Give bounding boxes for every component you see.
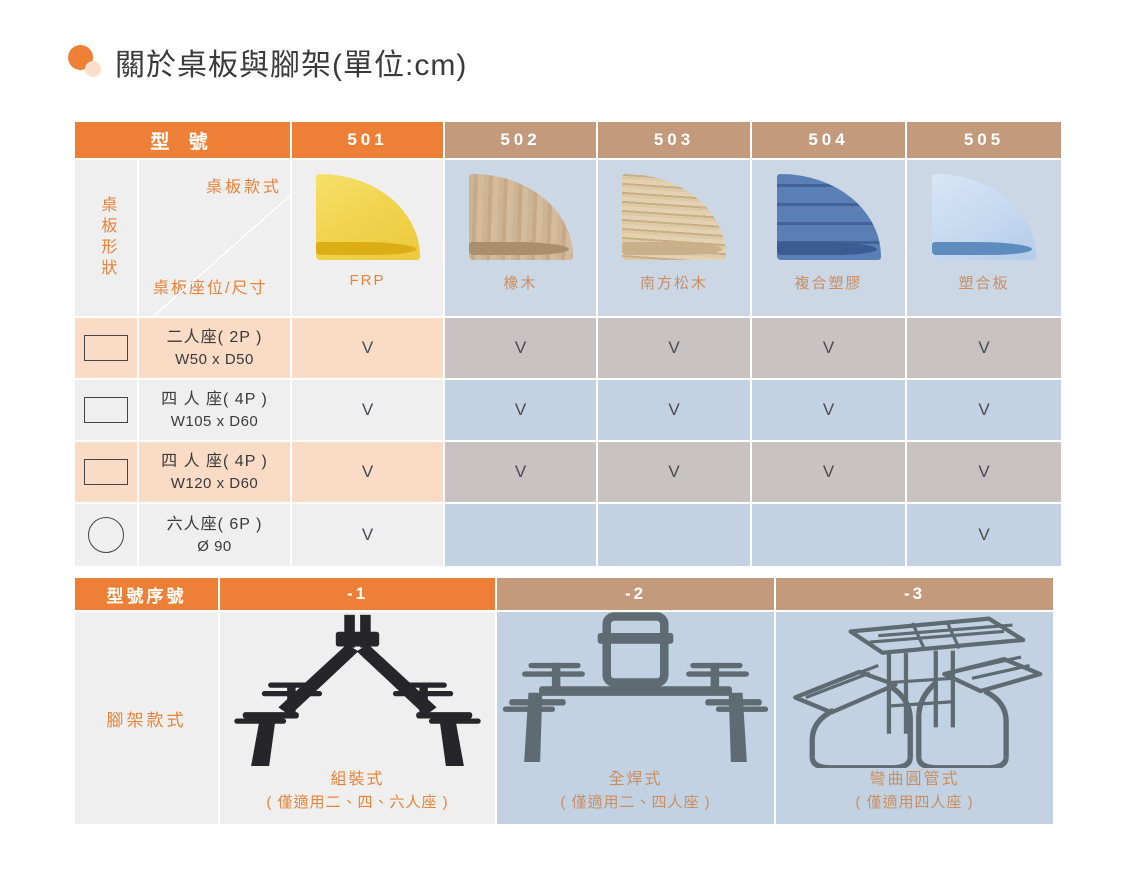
header-col-2: -2: [497, 578, 774, 610]
oak-wedge-icon: [461, 170, 581, 268]
seat-count-row4: 六人座( 6P ): [167, 513, 263, 536]
leg-frame-note-2: ( 僅適用二、四人座 ): [560, 792, 710, 815]
fully-welded-frame-icon: [497, 612, 774, 768]
dimensions-row2: W105 x D60: [171, 411, 259, 433]
material-preview-504: 複合塑膠: [752, 160, 905, 316]
header-col-502: 502: [445, 122, 596, 158]
cell-505-row3: V: [907, 442, 1061, 502]
header-col-501: 501: [292, 122, 443, 158]
dimensions-row1: W50 x D50: [175, 349, 254, 371]
shape-icon-cell-row1: [75, 318, 137, 378]
size-cell-row1: 二人座( 2P ) W50 x D50: [139, 318, 290, 378]
frp-wedge-icon: [308, 170, 428, 268]
orange-dot-icon: [68, 45, 102, 79]
cell-505-row2: V: [907, 380, 1061, 440]
material-preview-501: FRP: [292, 160, 443, 316]
size-cell-row3: 四 人 座( 4P ) W120 x D60: [139, 442, 290, 502]
cell-502-row2: V: [445, 380, 596, 440]
shape-icon-cell-row2: [75, 380, 137, 440]
header-col-3: -3: [776, 578, 1053, 610]
cell-503-row2: V: [598, 380, 750, 440]
leg-frame-note-1: ( 僅適用二、四、六人座 ): [266, 792, 448, 815]
rectangle-shape-icon: [84, 335, 128, 361]
leg-frame-cell-2: 全焊式 ( 僅適用二、四人座 ): [497, 612, 774, 824]
material-preview-502: 橡木: [445, 160, 596, 316]
size-cell-row2: 四 人 座( 4P ) W105 x D60: [139, 380, 290, 440]
composite-plastic-wedge-icon: [769, 170, 889, 268]
material-preview-505: 塑合板: [907, 160, 1061, 316]
cell-502-row3: V: [445, 442, 596, 502]
cell-504-row4: [752, 504, 905, 566]
axis-label-shape: 桌板形狀: [75, 160, 137, 316]
page-title: 關於桌板與腳架(單位:cm): [115, 40, 467, 84]
size-cell-row4: 六人座( 6P ) Ø 90: [139, 504, 290, 566]
header-model: 型 號: [75, 122, 290, 158]
shape-icon-cell-row3: [75, 442, 137, 502]
header-col-504: 504: [752, 122, 905, 158]
header-col-503: 503: [598, 122, 750, 158]
rectangle-shape-icon: [84, 459, 128, 485]
leg-frame-name-3: 彎曲圓管式: [869, 768, 959, 792]
page-title-row: 關於桌板與腳架(單位:cm): [68, 40, 467, 84]
cell-505-row1: V: [907, 318, 1061, 378]
orange-dot-secondary: [85, 61, 101, 77]
cell-501-row2: V: [292, 380, 443, 440]
pine-wedge-icon: [614, 170, 734, 268]
axis-split-cell: 桌板款式 桌板座位/尺寸: [139, 160, 290, 316]
leg-frame-cell-3: 彎曲圓管式 ( 僅適用四人座 ): [776, 612, 1053, 824]
material-label-504: 複合塑膠: [794, 272, 862, 293]
cell-502-row1: V: [445, 318, 596, 378]
header-col-1: -1: [220, 578, 495, 610]
leg-frame-cell-1: 組裝式 ( 僅適用二、四、六人座 ): [220, 612, 495, 824]
material-label-503: 南方松木: [640, 272, 708, 293]
tabletop-spec-table: 型 號 501 502 503 504 505 桌板形狀 桌板款式 桌板座位/尺…: [75, 122, 1049, 556]
seat-count-row3: 四 人 座( 4P ): [161, 450, 268, 473]
bolted-a-frame-icon: [220, 612, 495, 768]
material-preview-503: 南方松木: [598, 160, 750, 316]
cell-503-row3: V: [598, 442, 750, 502]
seat-count-row2: 四 人 座( 4P ): [161, 388, 268, 411]
cell-504-row2: V: [752, 380, 905, 440]
material-label-501: FRP: [350, 272, 386, 289]
cell-503-row4: [598, 504, 750, 566]
cell-502-row4: [445, 504, 596, 566]
dimensions-row3: W120 x D60: [171, 473, 259, 495]
circle-shape-icon: [88, 517, 124, 553]
leg-frame-name-2: 全焊式: [608, 768, 662, 792]
row-label-leg-style: 腳架款式: [75, 612, 218, 824]
seat-count-row1: 二人座( 2P ): [167, 326, 263, 349]
leg-frame-spec-table: 型號序號 -1 -2 -3 腳架款式: [75, 578, 1049, 824]
rectangle-shape-icon: [84, 397, 128, 423]
cell-501-row3: V: [292, 442, 443, 502]
material-label-502: 橡木: [503, 272, 537, 293]
dimensions-row4: Ø 90: [197, 536, 232, 558]
header-series: 型號序號: [75, 578, 218, 610]
cell-504-row3: V: [752, 442, 905, 502]
cell-505-row4: V: [907, 504, 1061, 566]
axis-label-style: 桌板款式: [206, 176, 282, 199]
cell-501-row1: V: [292, 318, 443, 378]
shape-icon-cell-row4: [75, 504, 137, 566]
axis-label-shape-text: 桌板形狀: [98, 196, 115, 280]
header-col-505: 505: [907, 122, 1061, 158]
axis-label-size: 桌板座位/尺寸: [153, 277, 267, 300]
bent-round-tube-frame-icon: [776, 612, 1053, 768]
leg-frame-note-3: ( 僅適用四人座 ): [855, 792, 973, 815]
particle-board-wedge-icon: [924, 170, 1044, 268]
cell-501-row4: V: [292, 504, 443, 566]
spec-sheet-page: 關於桌板與腳架(單位:cm) 型 號 501 502 503 504 505 桌…: [0, 0, 1122, 880]
leg-frame-name-1: 組裝式: [330, 768, 384, 792]
material-label-505: 塑合板: [958, 272, 1009, 293]
cell-504-row1: V: [752, 318, 905, 378]
cell-503-row1: V: [598, 318, 750, 378]
